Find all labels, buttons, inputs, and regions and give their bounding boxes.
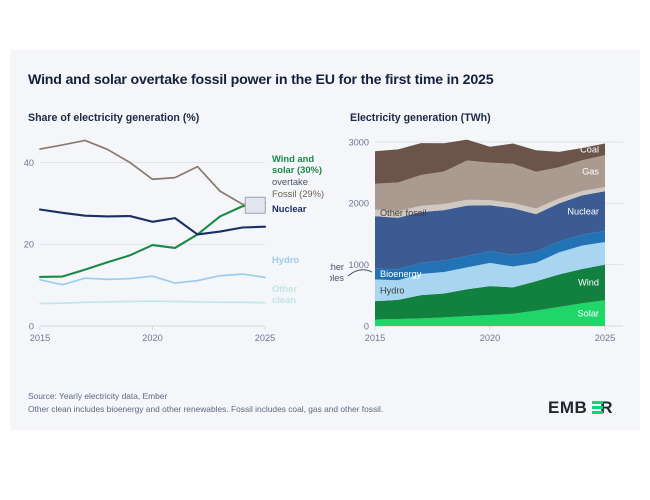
svg-text:2020: 2020 (480, 333, 500, 343)
svg-text:Solar: Solar (578, 308, 599, 318)
svg-text:clean: clean (272, 294, 296, 305)
svg-text:Hydro: Hydro (380, 285, 405, 295)
left-panel-title: Share of electricity generation (%) (28, 112, 199, 124)
svg-text:2015: 2015 (365, 333, 385, 343)
logo-bar-bottom (592, 411, 603, 414)
right-panel-title: Electricity generation (TWh) (350, 112, 491, 124)
svg-text:0: 0 (29, 321, 34, 331)
ember-logo: EMBR (548, 398, 613, 418)
svg-text:Coal: Coal (580, 144, 599, 154)
svg-text:2025: 2025 (595, 333, 615, 343)
svg-text:Nuclear: Nuclear (272, 203, 307, 214)
electricity-generation-area-chart: 0100020003000 201520202025 CoalGasNuclea… (330, 128, 650, 378)
svg-text:overtake: overtake (272, 176, 308, 187)
crossover-highlight-box (245, 197, 265, 213)
svg-text:Fossil (29%): Fossil (29%) (272, 188, 324, 199)
left-y-axis-ticks: 02040 (24, 158, 34, 331)
svg-text:renewables: renewables (330, 273, 344, 283)
svg-text:Gas: Gas (582, 166, 599, 176)
footer-source: Source: Yearly electricity data, Ember (28, 390, 383, 403)
svg-text:Other fossil: Other fossil (380, 208, 426, 218)
svg-text:Other: Other (272, 283, 297, 294)
svg-text:solar (30%): solar (30%) (272, 164, 322, 175)
footer-notes: Source: Yearly electricity data, Ember O… (28, 390, 383, 416)
ember-logo-text: EMBR (548, 398, 613, 418)
left-series-lines (40, 140, 265, 303)
left-gridlines (40, 163, 265, 245)
svg-text:3000: 3000 (349, 137, 369, 147)
svg-text:40: 40 (24, 158, 34, 168)
svg-text:2020: 2020 (142, 333, 162, 343)
svg-text:Bioenergy: Bioenergy (380, 269, 422, 279)
svg-text:Other: Other (330, 262, 344, 272)
svg-text:0: 0 (364, 321, 369, 331)
right-y-axis-ticks: 0100020003000 (349, 137, 369, 331)
left-x-axis: 201520202025 (30, 326, 275, 343)
left-series-labels: Wind andsolar (30%)overtakeFossil (29%)N… (272, 153, 324, 305)
svg-text:2025: 2025 (255, 333, 275, 343)
logo-bar-top (592, 401, 603, 404)
right-stacked-areas (375, 140, 605, 326)
chart-card: Wind and solar overtake fossil power in … (10, 50, 640, 430)
footer-definition: Other clean includes bioenergy and other… (28, 403, 383, 416)
right-x-axis: 201520202025 (365, 326, 623, 343)
svg-text:Wind: Wind (578, 278, 599, 288)
svg-text:1000: 1000 (349, 260, 369, 270)
page-title: Wind and solar overtake fossil power in … (28, 72, 493, 88)
svg-text:2015: 2015 (30, 333, 50, 343)
logo-bar-mid (592, 406, 603, 409)
logo-part-emb: EMB (548, 398, 587, 417)
svg-text:2000: 2000 (349, 199, 369, 209)
share-of-generation-line-chart: 02040 201520202025 Wind andsolar (30%)ov… (10, 128, 330, 378)
svg-text:Nuclear: Nuclear (567, 206, 599, 216)
svg-text:Wind and: Wind and (272, 153, 314, 164)
svg-text:Hydro: Hydro (272, 254, 299, 265)
svg-text:20: 20 (24, 240, 34, 250)
